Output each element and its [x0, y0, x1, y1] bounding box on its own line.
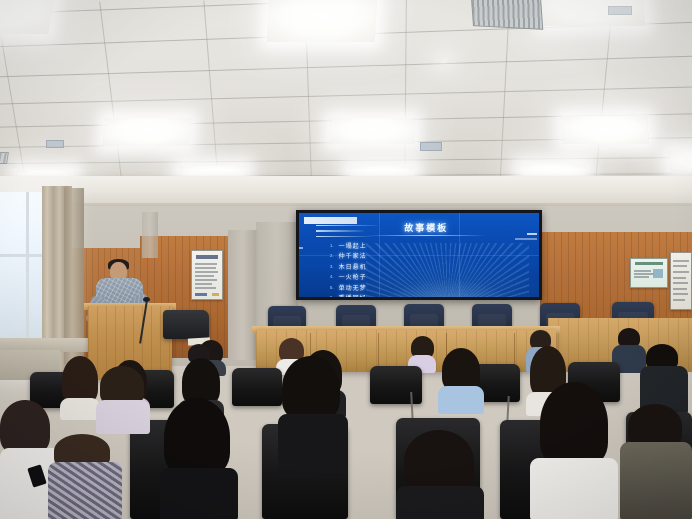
conference-room-photo: 故事模板 1.一塌起上2.仲千家法3.木日悬机4.一火枪子5.单动无梦6.重播回…	[0, 0, 692, 519]
slide-bullet-item: 6.重播回好	[321, 293, 436, 297]
equipment-bag	[163, 310, 209, 339]
ceiling-light-panel	[440, 58, 448, 64]
slide-bullet-number: 4.	[321, 274, 334, 279]
ceiling-air-vent	[471, 0, 543, 30]
slide-edge-glow	[515, 238, 537, 240]
slide-edge-glow	[299, 247, 303, 249]
presentation-slide: 故事模板 1.一塌起上2.仲千家法3.木日悬机4.一火枪子5.单动无梦6.重播回…	[299, 213, 539, 297]
slide-bullet-text: 木日悬机	[339, 262, 367, 271]
slide-bullet-number: 6.	[321, 295, 334, 297]
ceiling-light-panel	[0, 0, 56, 34]
slide-bullet-text: 重播回好	[339, 293, 367, 297]
slide-bullet-number: 5.	[321, 285, 334, 290]
audience-member	[620, 404, 692, 519]
slide-bullet-text: 仲千家法	[339, 251, 367, 260]
smoke-detector-icon	[420, 142, 442, 151]
wall-pillar	[142, 212, 158, 258]
audience-member	[60, 356, 100, 416]
audience-chair	[232, 368, 282, 406]
audience-chair	[370, 366, 422, 404]
led-video-wall[interactable]: 故事模板 1.一塌起上2.仲千家法3.木日悬机4.一火枪子5.单动无梦6.重播回…	[296, 210, 542, 300]
slide-title: 故事模板	[371, 221, 481, 234]
slide-bullet-item: 2.仲千家法	[321, 251, 436, 260]
wall-notice-poster	[191, 250, 223, 300]
slide-bullet-number: 2.	[321, 253, 334, 258]
audience-member	[278, 356, 348, 476]
ceiling-light-panel	[330, 118, 414, 144]
audience-member	[160, 398, 238, 519]
slide-bullet-item: 4.一火枪子	[321, 272, 436, 281]
ceiling-light-panel	[103, 118, 192, 146]
framed-notice	[670, 252, 692, 310]
slide-title-underline	[366, 235, 486, 236]
slide-bullet-text: 一塌起上	[339, 241, 367, 250]
slide-bullet-text: 单动无梦	[339, 283, 367, 292]
slide-bullet-item: 1.一塌起上	[321, 241, 436, 250]
framed-certificate	[630, 258, 668, 288]
slide-bullet-text: 一火枪子	[339, 272, 367, 281]
ceiling-light-panel	[561, 116, 649, 144]
audience-member	[530, 382, 618, 519]
slide-bullet-number: 1.	[321, 243, 334, 248]
slide-bullet-number: 3.	[321, 264, 334, 269]
slide-edge-glow	[527, 233, 537, 235]
ceiling-light-panel	[669, 150, 692, 172]
microphone-icon	[143, 297, 150, 302]
slide-corner-tag	[304, 217, 357, 224]
audience-member	[640, 344, 688, 412]
slide-bullet-item: 5.单动无梦	[321, 283, 436, 292]
audience-member	[438, 348, 484, 412]
smoke-detector-icon	[608, 6, 632, 15]
smoke-detector-icon	[46, 140, 64, 148]
audience-member	[96, 366, 150, 432]
ceiling-light-panel	[267, 0, 378, 42]
audience-member	[396, 430, 484, 519]
slide-bullet-list: 1.一塌起上2.仲千家法3.木日悬机4.一火枪子5.单动无梦6.重播回好	[321, 241, 436, 297]
audience-member	[48, 434, 122, 519]
slide-bullet-item: 3.木日悬机	[321, 262, 436, 271]
wall-pillar	[228, 230, 258, 360]
